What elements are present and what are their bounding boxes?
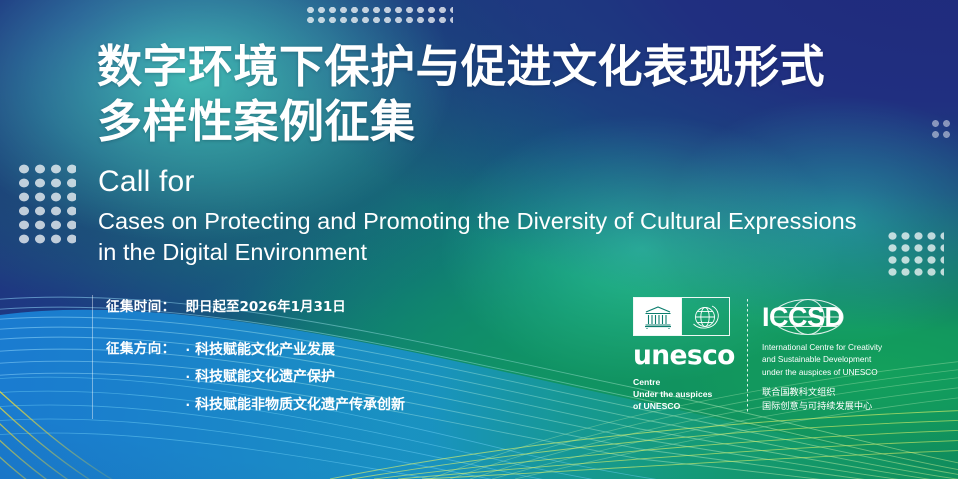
unesco-subtitle-line-1: Centre: [633, 376, 733, 388]
iccsd-logo: ICCSD International Centre for Creativit…: [762, 297, 912, 414]
iccsd-emblem: ICCSD: [762, 297, 874, 337]
bullet-dot-icon: ·: [186, 370, 191, 384]
page-title-chinese-line-1: 数字环境下保护与促进文化表现形式: [97, 40, 887, 95]
list-item-label: 科技赋能非物质文化遗产传承创新: [195, 397, 405, 413]
logo-divider: [747, 299, 748, 414]
list-item-label: 科技赋能文化遗产保护: [195, 369, 335, 385]
unesco-subtitle-line-3: of UNESCO: [633, 400, 733, 412]
logo-group: unesco Centre Under the auspices of UNES…: [633, 297, 912, 414]
call-for-line-1: Cases on Protecting and Promoting the Di…: [98, 206, 908, 237]
iccsd-english-line-3: under the auspices of UNESCO: [762, 367, 912, 379]
call-for-line-2: in the Digital Environment: [98, 237, 908, 268]
dot-grid-top-decoration: [305, 5, 453, 23]
unesco-emblem: [633, 297, 730, 336]
list-item-label: 科技赋能文化产业发展: [195, 342, 335, 358]
call-for-lead: Call for: [98, 163, 908, 201]
unesco-logo: unesco Centre Under the auspices of UNES…: [633, 297, 733, 412]
submission-info-block: 征集时间： 即日起至2026年1月31日 征集方向： ·科技赋能文化产业发展 ·…: [92, 295, 405, 419]
submission-topics-label: 征集方向：: [106, 337, 176, 357]
submission-topics-row: 征集方向： ·科技赋能文化产业发展 ·科技赋能文化遗产保护 ·科技赋能非物质文化…: [106, 337, 405, 419]
unesco-subtitle-line-2: Under the auspices: [633, 388, 733, 400]
unesco-wordmark: unesco: [633, 343, 733, 370]
iccsd-chinese-line-2: 国际创意与可持续发展中心: [762, 400, 912, 414]
unesco-globe-icon: [681, 298, 729, 335]
iccsd-english-name: International Centre for Creativity and …: [762, 342, 912, 379]
submission-deadline-value: 即日起至2026年1月31日: [186, 295, 346, 315]
unesco-subtitle: Centre Under the auspices of UNESCO: [633, 376, 733, 413]
page-title-chinese: 数字环境下保护与促进文化表现形式 多样性案例征集: [97, 40, 887, 150]
iccsd-wordmark: ICCSD: [762, 304, 844, 331]
dot-grid-left-decoration: [14, 160, 76, 246]
bullet-dot-icon: ·: [186, 398, 191, 412]
list-item: ·科技赋能文化产业发展: [186, 337, 406, 364]
bullet-dot-icon: ·: [186, 343, 191, 357]
page-title-english: Call for Cases on Protecting and Promoti…: [98, 163, 908, 268]
poster-banner: 数字环境下保护与促进文化表现形式 多样性案例征集 Call for Cases …: [0, 0, 958, 479]
submission-deadline-row: 征集时间： 即日起至2026年1月31日: [106, 295, 405, 315]
iccsd-english-line-1: International Centre for Creativity: [762, 342, 912, 354]
list-item: ·科技赋能非物质文化遗产传承创新: [186, 392, 406, 419]
iccsd-chinese-name: 联合国教科文组织 国际创意与可持续发展中心: [762, 386, 912, 415]
unesco-temple-icon: [634, 298, 681, 335]
iccsd-chinese-line-1: 联合国教科文组织: [762, 386, 912, 400]
submission-topics-list: ·科技赋能文化产业发展 ·科技赋能文化遗产保护 ·科技赋能非物质文化遗产传承创新: [186, 337, 406, 419]
list-item: ·科技赋能文化遗产保护: [186, 364, 406, 391]
iccsd-english-line-2: and Sustainable Development: [762, 354, 912, 366]
info-spacer: [106, 315, 405, 337]
dot-grid-right-upper-decoration: [930, 118, 952, 142]
page-title-chinese-line-2: 多样性案例征集: [97, 95, 887, 150]
submission-deadline-label: 征集时间：: [106, 295, 176, 315]
